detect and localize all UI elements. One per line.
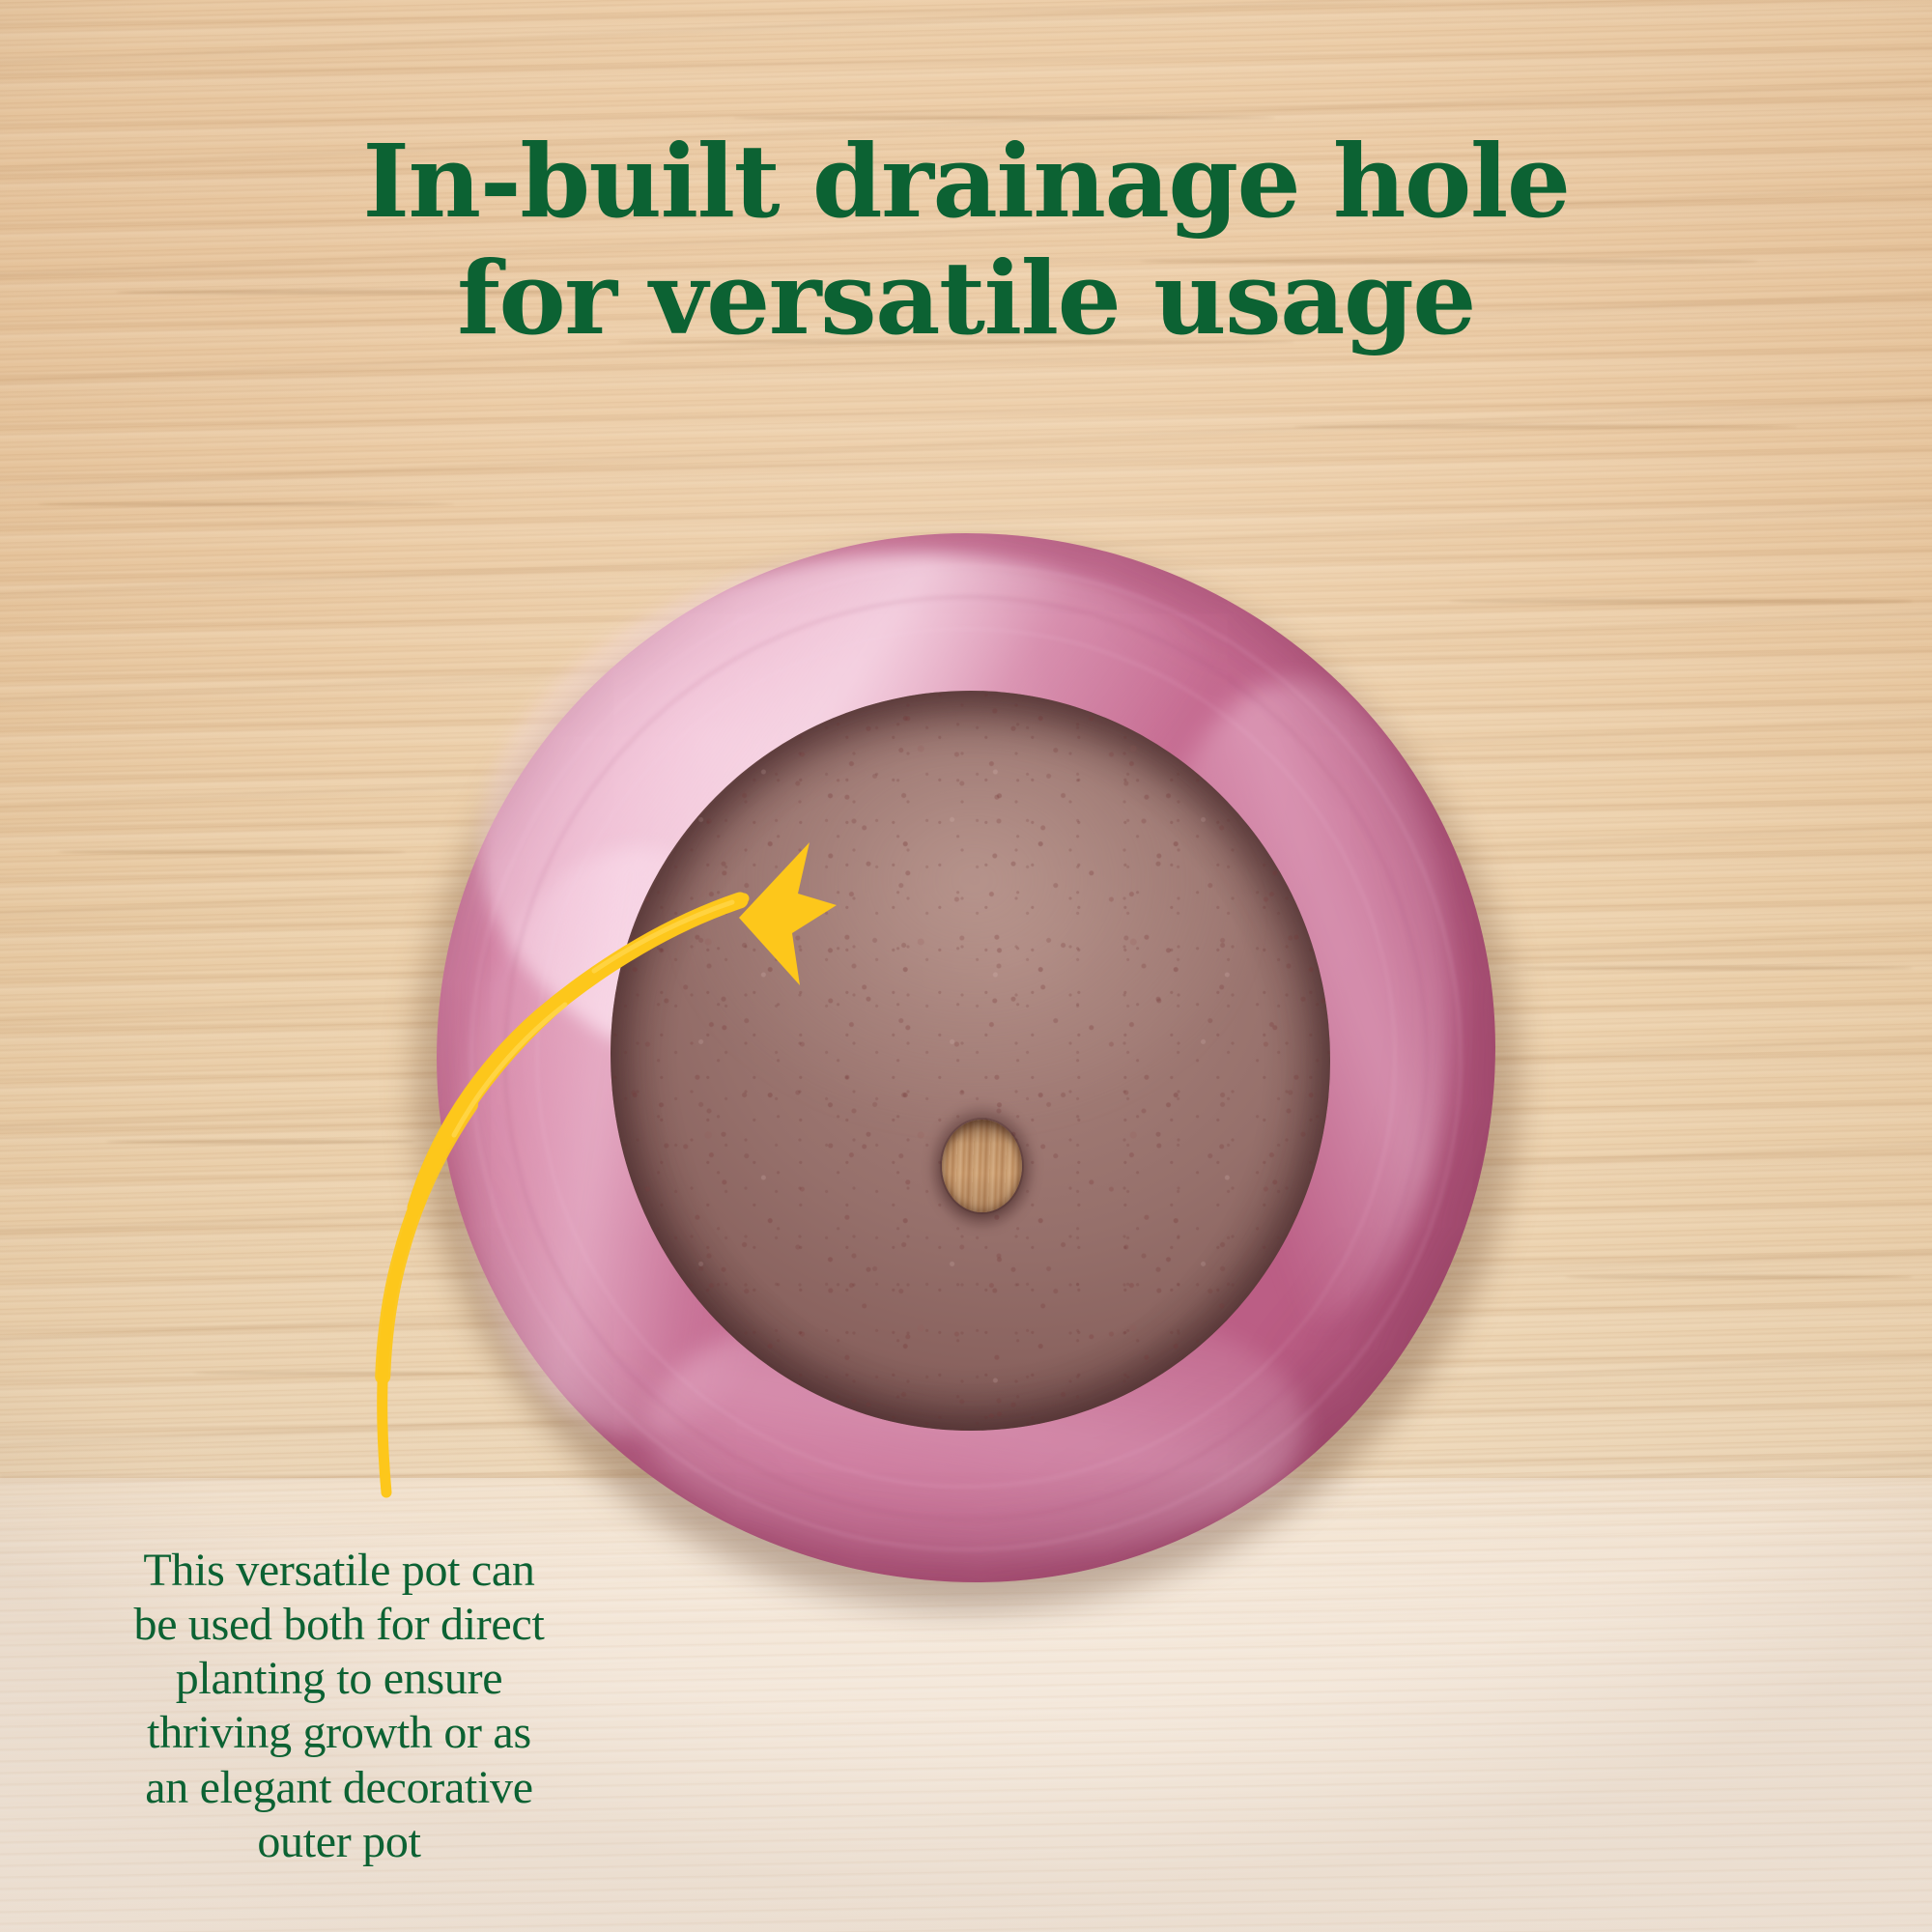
body-copy-line: This versatile pot can <box>44 1544 634 1598</box>
headline-line-1: In-built drainage hole <box>0 124 1932 241</box>
body-copy: This versatile pot can be used both for … <box>44 1544 634 1869</box>
drainage-hole <box>942 1120 1022 1212</box>
body-copy-line: outer pot <box>44 1815 634 1869</box>
pot-glazed-body <box>437 533 1495 1582</box>
feature-graphic-canvas: In-built drainage hole for versatile usa… <box>0 0 1932 1932</box>
body-copy-line: planting to ensure <box>44 1652 634 1706</box>
headline: In-built drainage hole for versatile usa… <box>0 124 1932 356</box>
headline-line-2: for versatile usage <box>0 241 1932 357</box>
body-copy-line: an elegant decorative <box>44 1761 634 1815</box>
body-copy-line: be used both for direct <box>44 1598 634 1652</box>
pot-interior-shading <box>611 691 1330 1431</box>
pot-interior <box>611 691 1330 1431</box>
body-copy-line: thriving growth or as <box>44 1706 634 1760</box>
plant-pot <box>437 533 1495 1582</box>
